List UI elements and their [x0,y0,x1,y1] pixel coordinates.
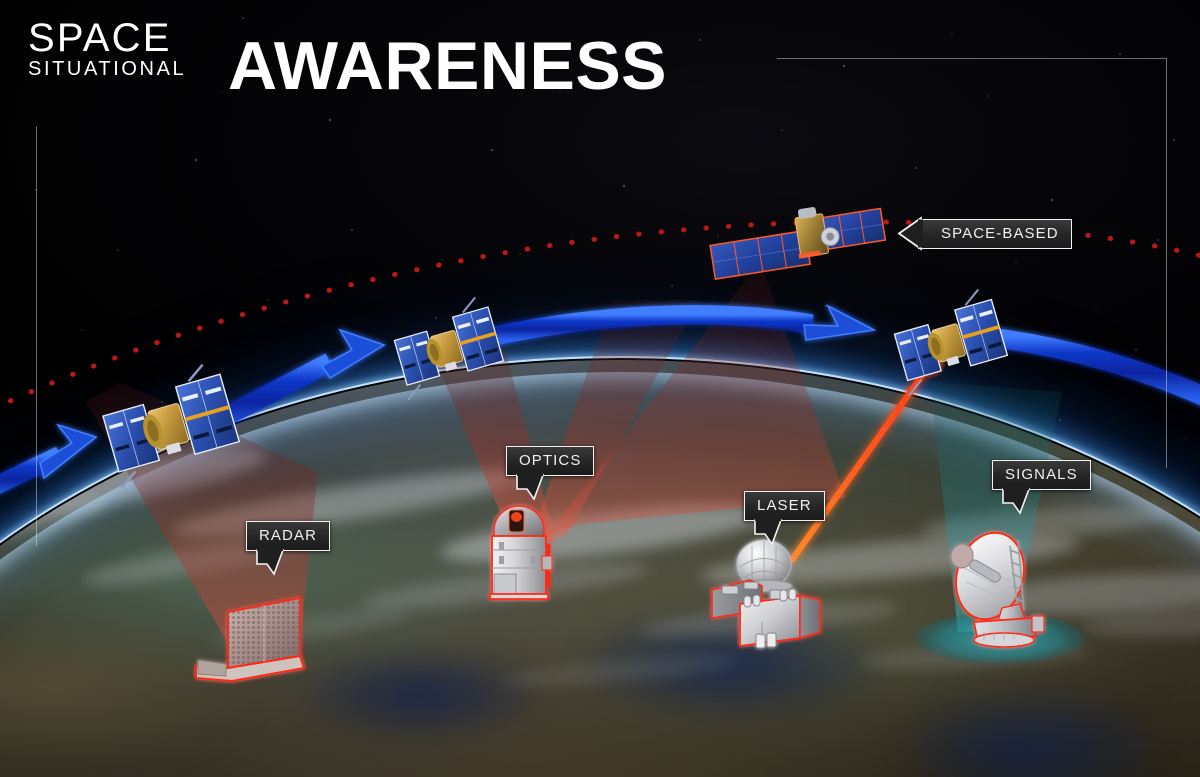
tracked-satellite-1[interactable] [100,368,240,483]
title-line-situational: SITUATIONAL [28,58,186,80]
callout-space-based-arrow-icon [899,218,921,249]
title-main-awareness: AWARENESS [228,32,667,100]
ssa-infographic: SPACE SITUATIONAL AWARENESS RADAR OPTICS [0,0,1200,777]
radio-dish-antenna[interactable] [940,524,1064,650]
space-based-sensor-satellite[interactable] [692,196,902,306]
callout-optics-label: OPTICS [519,452,581,469]
page-title: SPACE SITUATIONAL AWARENESS [28,18,186,80]
tracked-satellite-3[interactable] [892,288,1008,396]
callout-radar[interactable]: RADAR [246,521,330,551]
title-line-space: SPACE [28,18,186,58]
phased-array-radar[interactable] [176,580,316,692]
callout-laser-box[interactable]: LASER [744,491,825,521]
tracked-satellite-2[interactable] [392,296,504,400]
callout-radar-pointer [257,550,291,576]
callout-signals-label: SIGNALS [1005,466,1078,483]
solar-array-left [710,231,810,280]
callout-optics[interactable]: OPTICS [506,446,594,476]
telescope-entry [494,574,516,596]
callout-optics-box[interactable]: OPTICS [506,446,594,476]
callout-laser-pointer [755,520,789,546]
callout-radar-label: RADAR [259,527,317,544]
callout-laser-label: LASER [757,497,812,514]
callout-optics-pointer [517,475,551,501]
callout-radar-box[interactable]: RADAR [246,521,330,551]
radar-equipment-bay [198,660,226,676]
callout-laser[interactable]: LASER [744,491,825,521]
callout-space-based-label: SPACE-BASED [941,225,1059,242]
laser-ranging-station[interactable] [704,534,832,656]
callout-space-based-box[interactable]: SPACE-BASED [918,219,1072,249]
callout-signals-box[interactable]: SIGNALS [992,460,1091,490]
callout-signals[interactable]: SIGNALS [992,460,1091,490]
callout-space-based[interactable]: SPACE-BASED [918,219,1072,249]
optical-telescope[interactable] [480,498,568,608]
callout-signals-pointer [1003,489,1037,515]
